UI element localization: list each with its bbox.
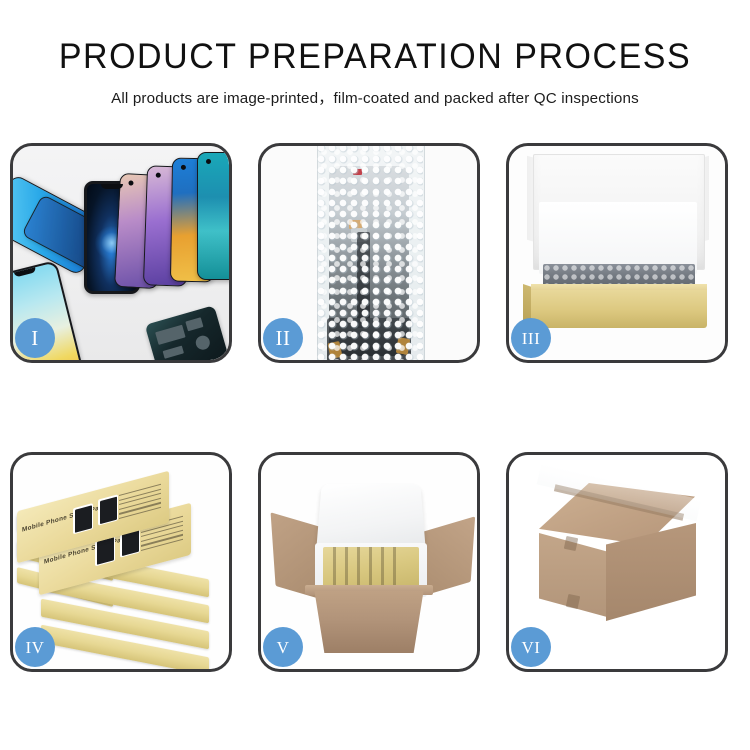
camera-punch-icon [206, 159, 211, 164]
styrofoam-lid-icon [316, 484, 426, 552]
step-badge-1: I [15, 318, 55, 358]
page-subtitle: All products are image-printed，film-coat… [0, 76, 750, 108]
step-badge-2: II [263, 318, 303, 358]
step-badge-3: III [511, 318, 551, 358]
process-step-panel-6[interactable]: VI [506, 452, 728, 672]
process-step-panel-5[interactable]: V [258, 452, 480, 672]
carton-front-icon [307, 591, 431, 653]
step-badge-6: VI [511, 627, 551, 667]
product-photo-icon [98, 494, 118, 525]
page-header: PRODUCT PREPARATION PROCESS All products… [0, 0, 750, 108]
notch-icon [101, 184, 123, 189]
bubble-highlight-overlay [317, 146, 423, 360]
tray-front-icon [531, 290, 707, 328]
camera-punch-icon [156, 173, 161, 178]
process-step-panel-3[interactable]: III [506, 143, 728, 363]
page-title: PRODUCT PREPARATION PROCESS [11, 0, 739, 76]
step-badge-4: IV [15, 627, 55, 667]
process-step-panel-2[interactable]: II [258, 143, 480, 363]
spec-lines-icon [119, 484, 161, 525]
step-badge-5: V [263, 627, 303, 667]
camera-punch-icon [181, 165, 186, 170]
process-step-panel-1[interactable]: I [10, 143, 232, 363]
yellow-boxes-inside-icon [323, 547, 419, 589]
box-label-text: Mobile Phone Spare Parts [22, 502, 108, 534]
process-step-grid: I II [10, 143, 740, 672]
notch-icon [14, 267, 37, 277]
camera-punch-icon [128, 180, 133, 185]
process-step-panel-4[interactable]: Mobile Phone Spare Parts Mobile Phone Sp… [10, 452, 232, 672]
product-photo-icon [73, 503, 93, 534]
phone-teal-icon [197, 152, 229, 280]
